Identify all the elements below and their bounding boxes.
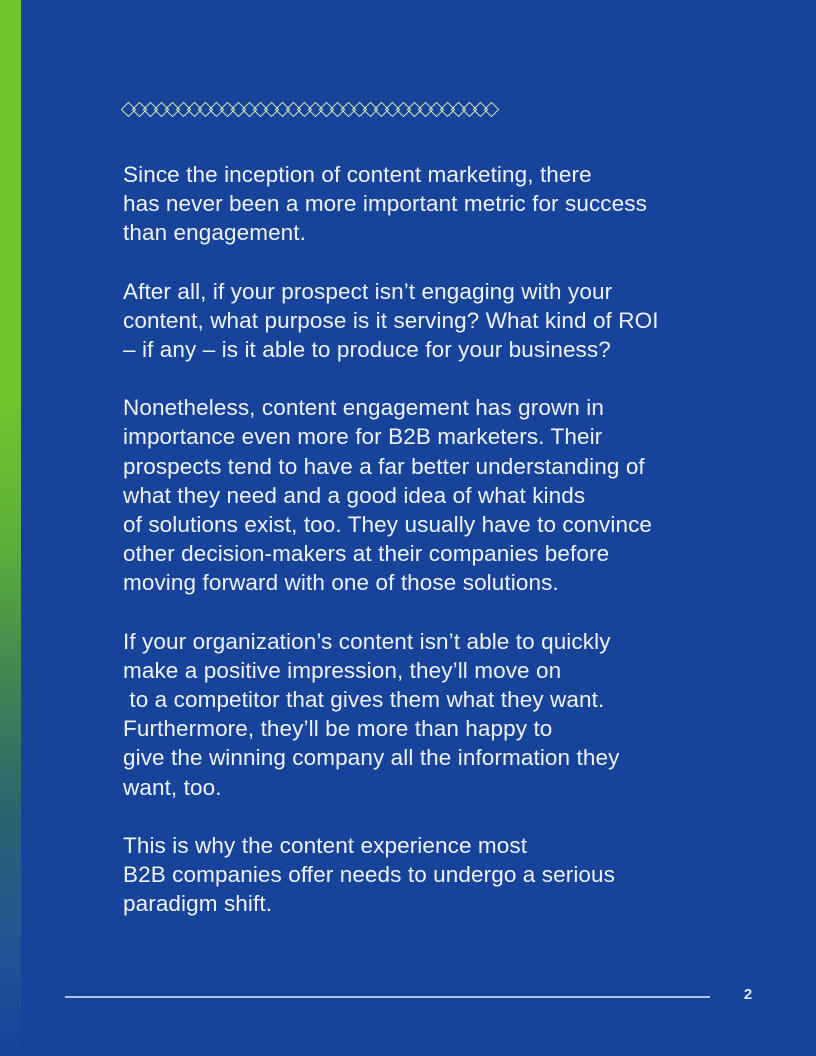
- left-accent-bar: [0, 0, 21, 1056]
- paragraph: This is why the content experience most …: [123, 831, 723, 919]
- paragraph: If your organization’s content isn’t abl…: [123, 627, 723, 802]
- diamond-icon: [484, 101, 500, 117]
- body-content: Since the inception of content marketing…: [123, 160, 723, 918]
- paragraph: Nonetheless, content engagement has grow…: [123, 393, 723, 597]
- document-page: Since the inception of content marketing…: [0, 0, 816, 1056]
- paragraph: After all, if your prospect isn’t engagi…: [123, 277, 723, 365]
- footer-divider-rule: [65, 996, 710, 998]
- page-number: 2: [730, 986, 766, 1003]
- paragraph: Since the inception of content marketing…: [123, 160, 723, 248]
- diamond-row-ornament-icon: [123, 100, 501, 118]
